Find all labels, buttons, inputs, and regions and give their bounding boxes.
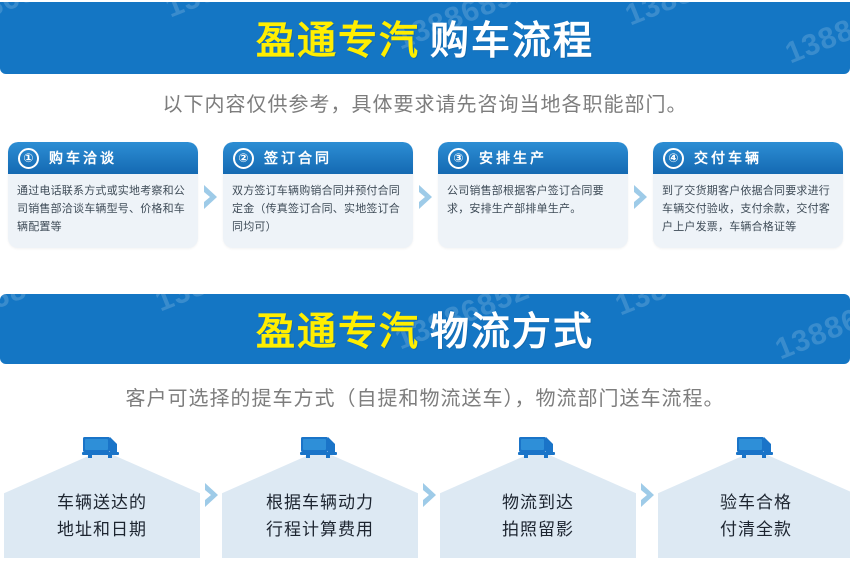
step-title: 安排生产: [479, 148, 547, 168]
logistics-card-text: 验车合格 付清全款: [658, 490, 850, 544]
step-body: 通过电话联系方式或实地考察和公司销售部洽谈车辆型号、价格和车辆配置等: [8, 174, 198, 248]
logistics-card[interactable]: 车辆送达的 地址和日期: [4, 432, 200, 558]
logistics-line-2: 付清全款: [658, 517, 850, 544]
logistics-line-1: 物流到达: [440, 490, 636, 517]
logistics-card-text: 物流到达 拍照留影: [440, 490, 636, 544]
banner-brand: 盈通专汽: [256, 10, 420, 66]
step-number-badge: ③: [448, 148, 469, 169]
logistics-card[interactable]: 物流到达 拍照留影: [440, 432, 636, 558]
chevron-right-icon: [418, 432, 440, 558]
step-header: ① 购车洽谈: [8, 142, 198, 174]
truck-icon: [81, 434, 123, 465]
step-number-badge: ①: [18, 148, 39, 169]
chevron-right-icon: [628, 142, 653, 252]
banner-logistics: 13886852428 13886852428 13886852428 1388…: [0, 294, 850, 364]
chevron-right-icon: [198, 142, 223, 252]
step-number-badge: ④: [663, 148, 684, 169]
logistics-card[interactable]: 根据车辆动力 行程计算费用: [222, 432, 418, 558]
purchase-steps-row: ① 购车洽谈 通过电话联系方式或实地考察和公司销售部洽谈车辆型号、价格和车辆配置…: [8, 142, 842, 252]
banner-title: 盈通专汽 物流方式: [0, 294, 850, 364]
truck-icon: [299, 434, 341, 465]
step-body: 双方签订车辆购销合同并预付合同定金（传真签订合同、实地签订合同均可）: [223, 174, 413, 248]
step-header: ② 签订合同: [223, 142, 413, 174]
logistics-subheadline: 客户可选择的提车方式（自提和物流送车），物流部门送车流程。: [0, 382, 850, 411]
banner-title: 盈通专汽 购车流程: [0, 2, 850, 74]
truck-icon: [517, 434, 559, 465]
banner-heading: 物流方式: [430, 301, 594, 357]
step-title: 购车洽谈: [49, 148, 117, 168]
banner-purchase-process: 13886852428 13886852428 13886852428 1388…: [0, 2, 850, 74]
logistics-line-1: 验车合格: [658, 490, 850, 517]
banner-brand: 盈通专汽: [256, 301, 420, 357]
logistics-line-1: 根据车辆动力: [222, 490, 418, 517]
step-card[interactable]: ④ 交付车辆 到了交货期客户依据合同要求进行车辆交付验收，支付余款，交付客户上户…: [653, 142, 843, 248]
logistics-line-1: 车辆送达的: [4, 490, 200, 517]
step-number-badge: ②: [233, 148, 254, 169]
purchase-subheadline: 以下内容仅供参考，具体要求请先咨询当地各职能部门。: [0, 88, 850, 117]
chevron-right-icon: [200, 432, 222, 558]
step-title: 交付车辆: [694, 148, 762, 168]
step-title: 签订合同: [264, 148, 332, 168]
logistics-card-text: 根据车辆动力 行程计算费用: [222, 490, 418, 544]
step-body: 到了交货期客户依据合同要求进行车辆交付验收，支付余款，交付客户上户发票，车辆合格…: [653, 174, 843, 248]
promo-page: 13886852428 13886852428 13886852428 1388…: [0, 0, 850, 564]
chevron-right-icon: [413, 142, 438, 252]
step-card[interactable]: ③ 安排生产 公司销售部根据客户签订合同要求，安排生产部排单生产。: [438, 142, 628, 248]
logistics-card[interactable]: 验车合格 付清全款: [658, 432, 850, 558]
step-header: ③ 安排生产: [438, 142, 628, 174]
chevron-right-icon: [636, 432, 658, 558]
step-card[interactable]: ① 购车洽谈 通过电话联系方式或实地考察和公司销售部洽谈车辆型号、价格和车辆配置…: [8, 142, 198, 248]
step-header: ④ 交付车辆: [653, 142, 843, 174]
logistics-card-text: 车辆送达的 地址和日期: [4, 490, 200, 544]
logistics-line-2: 行程计算费用: [222, 517, 418, 544]
logistics-line-2: 拍照留影: [440, 517, 636, 544]
step-body: 公司销售部根据客户签订合同要求，安排生产部排单生产。: [438, 174, 628, 248]
step-card[interactable]: ② 签订合同 双方签订车辆购销合同并预付合同定金（传真签订合同、实地签订合同均可…: [223, 142, 413, 248]
logistics-steps-row: 车辆送达的 地址和日期 根据车辆动力 行程计算费用: [4, 432, 846, 560]
banner-heading: 购车流程: [430, 10, 594, 66]
truck-icon: [735, 434, 777, 465]
logistics-line-2: 地址和日期: [4, 517, 200, 544]
